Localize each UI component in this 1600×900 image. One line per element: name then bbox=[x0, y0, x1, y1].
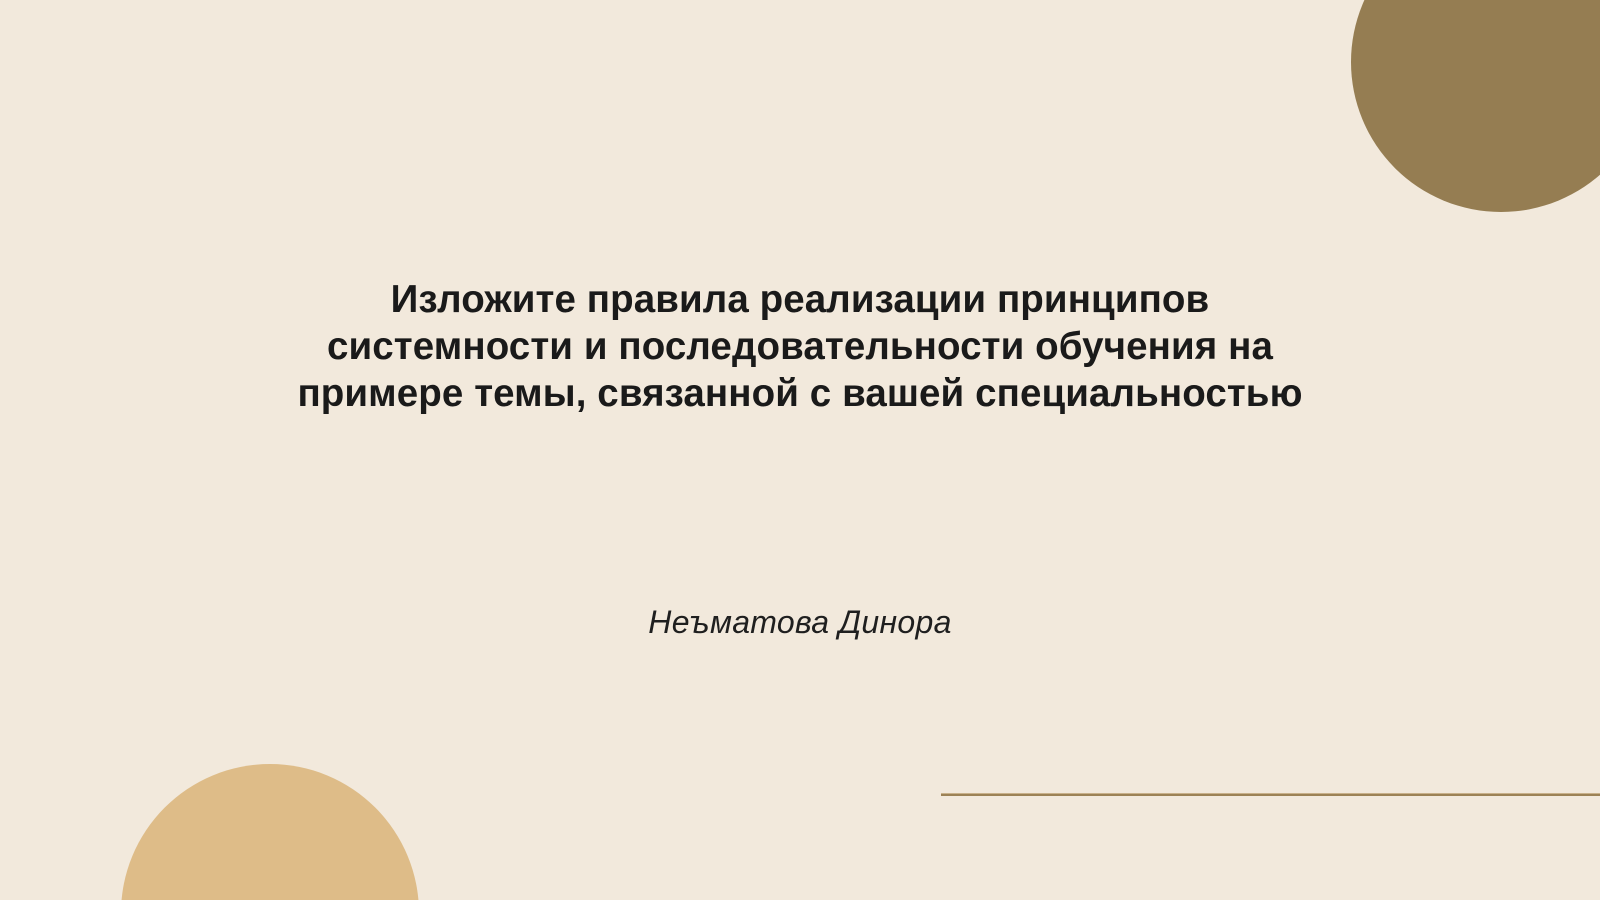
title-block: Изложите правила реализации принципов си… bbox=[296, 276, 1304, 417]
accent-horizontal-rule bbox=[941, 793, 1600, 796]
decorative-circle-bottom-left bbox=[121, 764, 419, 900]
slide-title: Изложите правила реализации принципов си… bbox=[296, 276, 1304, 417]
decorative-circle-top-right bbox=[1351, 0, 1600, 212]
presentation-slide: Изложите правила реализации принципов си… bbox=[0, 0, 1600, 900]
author-name: Неъматова Динора bbox=[296, 601, 1304, 643]
author-block: Неъматова Динора bbox=[296, 601, 1304, 643]
